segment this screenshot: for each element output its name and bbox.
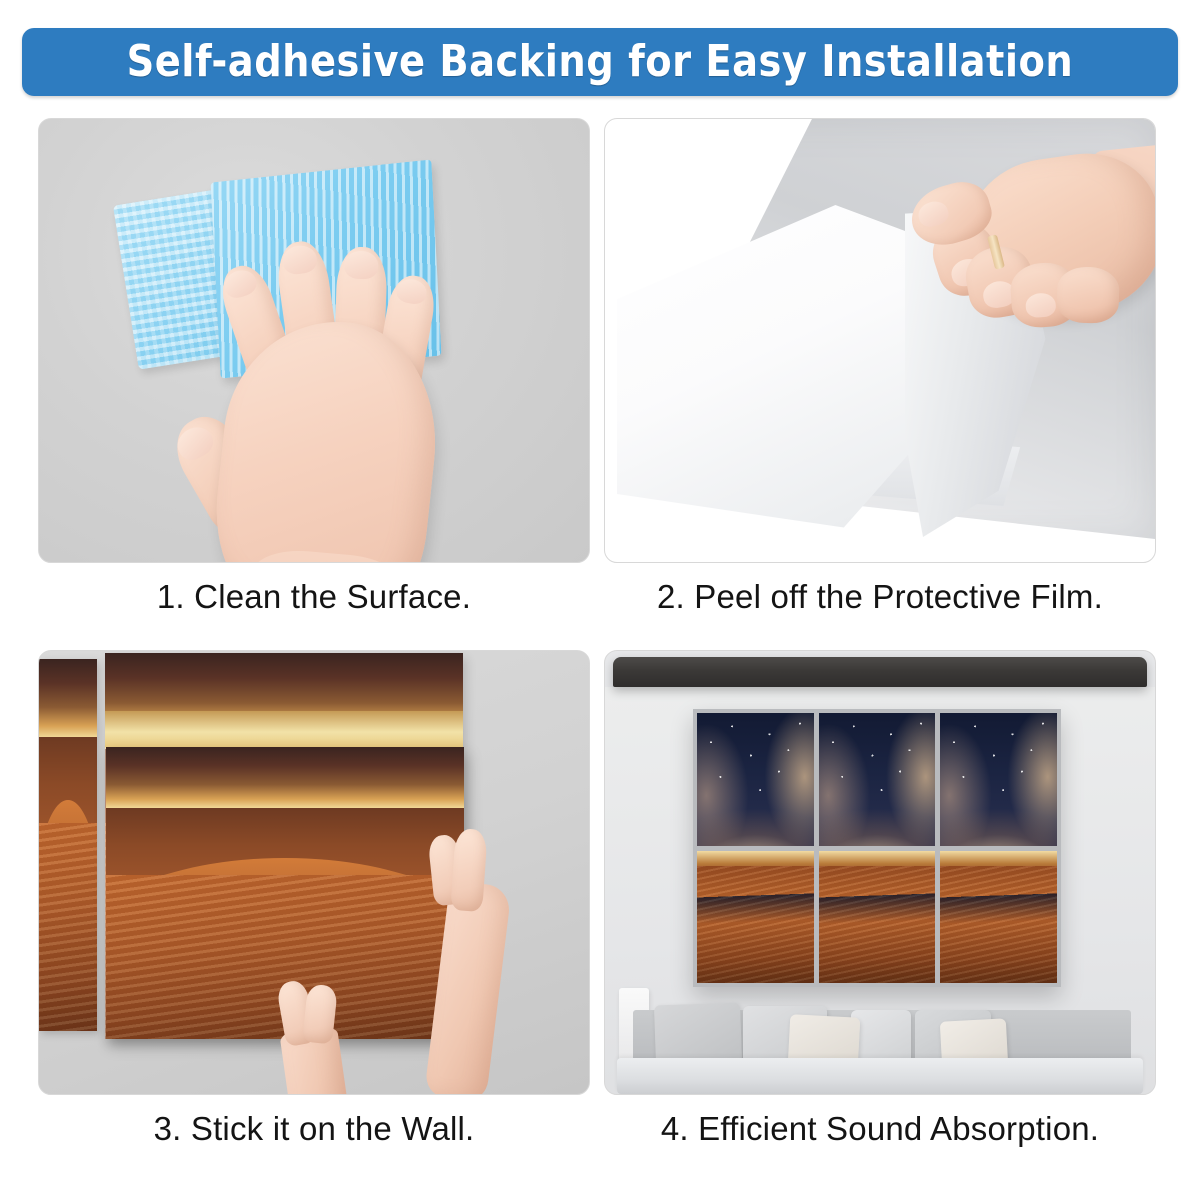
left-hand-pressing <box>257 981 377 1095</box>
finger-middle <box>450 828 488 912</box>
thumbnail <box>172 421 218 465</box>
peeling-hand <box>905 127 1156 397</box>
near-dune <box>39 823 97 1031</box>
stars <box>940 713 1057 846</box>
fingernail <box>395 277 429 306</box>
sky <box>39 659 97 745</box>
installed-panel-left <box>39 659 97 1031</box>
dune-artwork <box>39 659 97 1031</box>
art-tile-4 <box>697 851 814 984</box>
step-4-caption: 4. Efficient Sound Absorption. <box>604 1106 1156 1152</box>
fingernail <box>281 244 319 276</box>
steps-grid: 1. Clean the Surface. <box>0 110 1200 1190</box>
step-4-photo <box>604 650 1156 1095</box>
art-tile-5 <box>819 851 936 984</box>
step-1-photo <box>38 118 590 563</box>
step-1-caption: 1. Clean the Surface. <box>38 574 590 620</box>
step-2-caption: 2. Peel off the Protective Film. <box>604 574 1156 620</box>
sofa <box>611 1002 1149 1094</box>
step-card-4: 4. Efficient Sound Absorption. <box>604 650 1156 1162</box>
stars <box>697 713 814 846</box>
step-card-2: 2. Peel off the Protective Film. <box>604 118 1156 630</box>
art-tile-3 <box>940 713 1057 846</box>
fingernail <box>1025 292 1057 318</box>
step-3-caption: 3. Stick it on the Wall. <box>38 1106 590 1152</box>
step-3-photo <box>38 650 590 1095</box>
finger-middle <box>302 984 338 1045</box>
stars <box>819 713 936 846</box>
step-2-photo <box>604 118 1156 563</box>
forearm <box>424 880 512 1095</box>
step-card-1: 1. Clean the Surface. <box>38 118 590 630</box>
pillow <box>851 1010 911 1064</box>
desert-dunes <box>697 866 814 983</box>
desert-dunes <box>940 866 1057 983</box>
milky-way-wall-art-grid <box>693 709 1061 987</box>
fingernail <box>221 266 260 301</box>
art-tile-2 <box>819 713 936 846</box>
pillow <box>654 1003 742 1066</box>
infographic-page: Self-adhesive Backing for Easy Installat… <box>0 0 1200 1200</box>
art-tile-1 <box>697 713 814 846</box>
cleaning-hand <box>175 201 451 563</box>
art-tile-6 <box>940 851 1057 984</box>
step-card-3: 3. Stick it on the Wall. <box>38 650 590 1162</box>
banner-title: Self-adhesive Backing for Easy Installat… <box>127 40 1074 84</box>
desert-dunes <box>819 866 936 983</box>
finger-pinky <box>1056 266 1120 324</box>
title-banner: Self-adhesive Backing for Easy Installat… <box>22 28 1178 96</box>
sky <box>106 747 464 814</box>
fingernail <box>344 250 379 279</box>
horizon-glow-strip <box>105 711 463 749</box>
right-hand-pressing <box>391 829 521 1095</box>
thumbnail <box>916 198 951 229</box>
sofa-seat <box>617 1058 1143 1094</box>
ceiling-molding <box>613 657 1147 687</box>
